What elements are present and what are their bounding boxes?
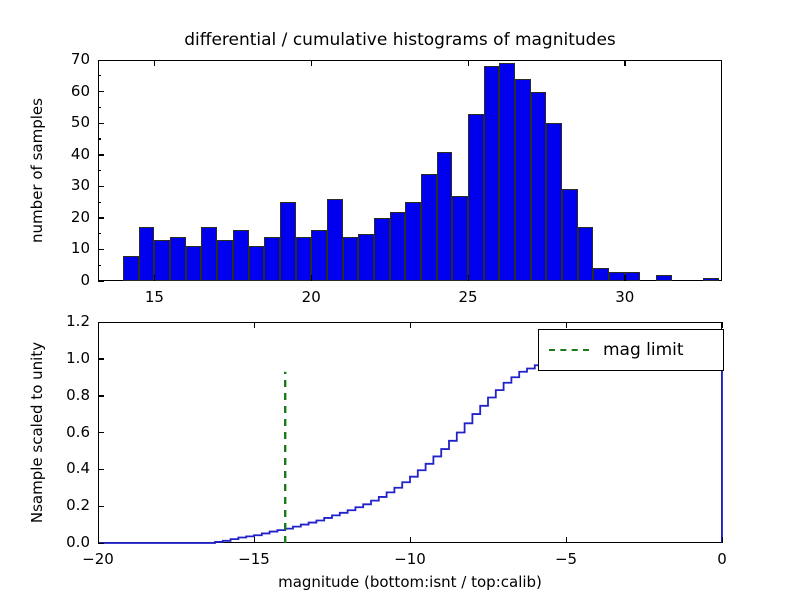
bottom-y-axis-label: Nsample scaled to unity bbox=[28, 322, 46, 543]
x-tick-mark bbox=[98, 322, 99, 328]
y-tick-mark bbox=[98, 395, 104, 396]
x-tick-label: −20 bbox=[68, 550, 128, 568]
x-tick-mark bbox=[722, 537, 723, 543]
x-tick-mark bbox=[98, 537, 99, 543]
x-tick-mark bbox=[410, 322, 411, 328]
cumulative-curve bbox=[98, 359, 722, 543]
x-tick-label: −5 bbox=[536, 550, 596, 568]
y-tick-mark bbox=[98, 469, 104, 470]
cumulative-curve-svg bbox=[0, 0, 800, 600]
y-tick-mark bbox=[98, 432, 104, 433]
x-tick-label: −10 bbox=[380, 550, 440, 568]
bottom-x-axis-label: magnitude (bottom:isnt / top:calib) bbox=[98, 573, 722, 591]
x-tick-mark bbox=[566, 537, 567, 543]
legend-entry-label: mag limit bbox=[603, 340, 684, 360]
x-tick-mark bbox=[410, 537, 411, 543]
y-tick-mark bbox=[98, 543, 104, 544]
y-tick-mark bbox=[98, 358, 104, 359]
x-tick-mark bbox=[566, 322, 567, 328]
x-tick-label: 0 bbox=[692, 550, 752, 568]
figure-canvas: differential / cumulative histograms of … bbox=[0, 0, 800, 600]
x-tick-label: −15 bbox=[224, 550, 284, 568]
mag-limit-swatch-icon bbox=[549, 349, 589, 351]
x-tick-mark bbox=[254, 322, 255, 328]
y-tick-mark bbox=[98, 506, 104, 507]
x-tick-mark bbox=[254, 537, 255, 543]
legend[interactable]: mag limit bbox=[538, 329, 724, 371]
x-tick-mark bbox=[722, 322, 723, 328]
y-tick-mark bbox=[98, 322, 104, 323]
